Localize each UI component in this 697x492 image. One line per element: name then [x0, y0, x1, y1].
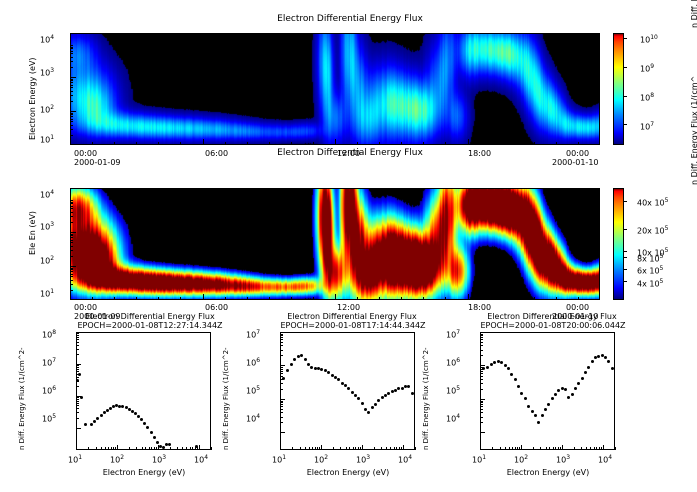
sp3-xtick-3: 103	[556, 453, 570, 465]
axis-tick	[509, 447, 510, 450]
axis-tick	[313, 297, 314, 300]
axis-tick	[70, 135, 73, 136]
axis-tick	[70, 290, 73, 291]
axis-tick	[149, 447, 150, 450]
data-point	[541, 414, 544, 417]
cbar-bot-tick-40: 40x 105	[637, 196, 668, 208]
axis-tick	[136, 447, 137, 450]
ytick-bot-2: 102	[40, 254, 54, 266]
axis-tick	[192, 447, 193, 450]
axis-tick	[70, 119, 73, 120]
axis-tick	[601, 447, 602, 450]
axis-tick	[280, 402, 283, 403]
axis-tick	[390, 447, 391, 450]
axis-tick	[70, 129, 73, 130]
spectrum-3-title: Electron Differential Energy Flux	[462, 312, 642, 321]
axis-tick	[335, 139, 336, 145]
axis-tick	[76, 405, 79, 406]
axis-tick	[319, 447, 320, 450]
axis-tick	[76, 365, 79, 366]
axis-tick	[423, 297, 424, 300]
spectrum-1-title: Electron Differential Energy Flux	[60, 312, 240, 321]
axis-tick	[70, 48, 73, 49]
axis-tick	[480, 373, 483, 374]
axis-tick	[309, 447, 310, 450]
axis-tick	[615, 447, 616, 450]
axis-tick	[355, 447, 356, 450]
axis-tick	[480, 383, 483, 384]
axis-tick	[423, 142, 424, 145]
axis-tick	[76, 335, 79, 336]
axis-tick	[280, 379, 283, 380]
axis-tick	[315, 447, 316, 450]
axis-tick	[76, 396, 81, 397]
panel-title-top: Electron Differential Energy Flux	[200, 14, 500, 24]
axis-tick	[70, 111, 76, 112]
axis-tick	[280, 371, 283, 372]
spectrum-2-plot[interactable]	[280, 332, 415, 450]
xtick-bot-3: 18:00	[468, 303, 491, 312]
sp3-xtick-2: 102	[514, 453, 528, 465]
axis-tick	[70, 274, 73, 275]
spectrum-3-plot[interactable]	[480, 332, 615, 450]
colorbar-label-top: n Diff. Energy Flux (1/(cm^	[690, 0, 697, 28]
axis-tick	[211, 447, 212, 450]
axis-tick	[480, 337, 483, 338]
axis-tick	[76, 342, 79, 343]
axis-tick	[180, 142, 181, 145]
axis-tick	[280, 383, 283, 384]
axis-tick	[101, 447, 102, 450]
axis-tick	[76, 403, 79, 404]
axis-tick	[70, 269, 73, 270]
axis-tick	[280, 404, 283, 405]
axis-tick	[519, 447, 520, 450]
axis-tick	[105, 447, 106, 450]
axis-tick	[76, 428, 81, 429]
axis-tick	[70, 67, 73, 68]
axis-tick	[70, 51, 73, 52]
axis-tick	[512, 142, 513, 145]
axis-tick	[399, 447, 400, 450]
axis-tick	[70, 47, 73, 48]
axis-tick	[480, 342, 483, 343]
axis-tick	[280, 432, 285, 433]
axis-tick	[70, 139, 71, 145]
axis-tick	[555, 447, 556, 450]
axis-tick	[394, 447, 395, 450]
axis-tick	[280, 412, 283, 413]
axis-tick	[195, 447, 196, 450]
axis-tick	[280, 342, 283, 343]
axis-tick	[379, 142, 380, 145]
axis-tick	[374, 447, 375, 450]
axis-tick	[480, 406, 483, 407]
xtick-bot-2: 12:00	[337, 303, 360, 312]
axis-tick	[512, 297, 513, 300]
axis-tick	[269, 297, 270, 300]
axis-tick	[182, 447, 183, 450]
axis-tick	[386, 447, 387, 450]
cbar-bot-tick-4: 4x 105	[637, 277, 663, 289]
axis-tick	[480, 345, 483, 346]
axis-tick	[70, 246, 73, 247]
axis-tick	[76, 371, 79, 372]
axis-tick	[515, 447, 516, 450]
colorbar-tick	[623, 229, 627, 230]
axis-tick	[70, 202, 73, 203]
axis-tick	[70, 113, 73, 114]
colorbar-tick	[623, 257, 627, 258]
axis-tick	[190, 447, 191, 450]
axis-tick	[490, 142, 491, 145]
axis-tick	[76, 332, 81, 333]
axis-tick	[335, 294, 336, 300]
axis-tick	[76, 418, 79, 419]
axis-tick	[280, 445, 281, 450]
axis-tick	[96, 447, 97, 450]
axis-tick	[280, 399, 285, 400]
spectrum-1-plot[interactable]	[76, 332, 211, 450]
xdate-start-top: 2000-01-09	[74, 158, 121, 167]
axis-tick	[92, 142, 93, 145]
sp2-ytick-4: 104	[246, 412, 260, 424]
axis-tick	[480, 367, 483, 368]
sp2-ytick-6: 106	[246, 356, 260, 368]
axis-tick	[280, 401, 283, 402]
axis-tick	[280, 334, 283, 335]
axis-tick	[512, 447, 513, 450]
axis-tick	[170, 447, 171, 450]
axis-tick	[480, 401, 483, 402]
axis-tick	[500, 447, 501, 450]
axis-tick	[291, 297, 292, 300]
axis-tick	[225, 142, 226, 145]
sp1-xtick-4: 104	[194, 453, 208, 465]
axis-tick	[346, 447, 347, 450]
axis-tick	[480, 376, 483, 377]
axis-tick	[70, 232, 76, 233]
axis-tick	[480, 432, 485, 433]
axis-tick	[480, 371, 483, 372]
axis-tick	[578, 297, 579, 300]
axis-tick	[313, 142, 314, 145]
axis-tick	[599, 447, 600, 450]
sp1-xtick-1: 101	[68, 453, 82, 465]
axis-tick	[197, 447, 198, 450]
sp3-ytick-6: 106	[446, 356, 460, 368]
axis-tick	[70, 95, 73, 96]
ytick-top-2: 102	[40, 103, 54, 115]
spectrogram-top-frame	[70, 33, 600, 145]
ytick-bot-1: 101	[40, 287, 54, 299]
axis-tick	[468, 139, 469, 145]
colorbar-tick	[623, 124, 627, 125]
panel-title-bottom: Electron Differential Energy Flux	[200, 148, 500, 158]
axis-tick	[401, 297, 402, 300]
axis-tick	[480, 379, 483, 380]
axis-tick	[357, 297, 358, 300]
data-point	[591, 360, 594, 363]
axis-tick	[225, 297, 226, 300]
axis-tick	[480, 365, 485, 366]
axis-tick	[70, 235, 73, 236]
ytick-top-1: 101	[40, 133, 54, 145]
sp3-ytick-5: 105	[446, 384, 460, 396]
axis-tick	[280, 365, 285, 366]
axis-tick	[480, 402, 483, 403]
axis-tick	[480, 412, 483, 413]
spectrogram-top[interactable]	[70, 33, 600, 145]
axis-tick	[70, 85, 73, 86]
sp1-ytick-7: 107	[42, 356, 56, 368]
data-point	[331, 374, 334, 377]
axis-tick	[186, 447, 187, 450]
axis-tick	[521, 445, 522, 450]
axis-tick	[114, 297, 115, 300]
data-point	[153, 436, 156, 439]
data-point	[290, 363, 293, 366]
axis-tick	[269, 142, 270, 145]
data-point	[554, 393, 557, 396]
data-point	[96, 417, 99, 420]
axis-tick	[180, 297, 181, 300]
axis-tick	[490, 297, 491, 300]
axis-tick	[534, 297, 535, 300]
axis-tick	[280, 422, 283, 423]
axis-tick	[401, 447, 402, 450]
axis-tick	[480, 335, 483, 336]
axis-tick	[158, 297, 159, 300]
data-point	[150, 431, 153, 434]
spectrum-2-subtitle: EPOCH=2000-01-08T17:14:44.344Z	[258, 321, 448, 330]
axis-tick	[76, 339, 79, 340]
axis-tick	[70, 61, 73, 62]
ytick-top-4: 104	[40, 33, 54, 45]
colorbar-tick	[623, 96, 627, 97]
sp2-ytick-7: 107	[246, 328, 260, 340]
axis-tick	[76, 345, 79, 346]
data-point	[286, 369, 289, 372]
axis-tick	[203, 294, 204, 300]
axis-tick	[480, 422, 483, 423]
axis-tick	[445, 297, 446, 300]
sp3-ytick-4: 104	[446, 412, 460, 424]
sp3-xtick-1: 101	[472, 453, 486, 465]
axis-tick	[76, 374, 79, 375]
axis-tick	[70, 280, 73, 281]
data-point	[571, 393, 574, 396]
data-point	[371, 406, 374, 409]
axis-tick	[581, 447, 582, 450]
axis-tick	[603, 445, 604, 450]
axis-tick	[76, 354, 79, 355]
axis-tick	[340, 447, 341, 450]
data-point	[381, 396, 384, 399]
axis-tick	[88, 447, 89, 450]
sp2-xtick-1: 101	[272, 453, 286, 465]
axis-tick	[76, 364, 81, 365]
data-point	[364, 408, 367, 411]
axis-tick	[117, 445, 118, 450]
data-point	[411, 392, 414, 395]
cbar-top-tick-8: 108	[640, 91, 654, 103]
spectrum-3-ylabel: n Diff. Energy Flux (1/(cm^2-	[422, 347, 430, 450]
axis-tick	[578, 142, 579, 145]
axis-tick	[353, 447, 354, 450]
axis-tick	[596, 447, 597, 450]
colorbar-tick	[623, 251, 627, 252]
xtick-top-4: 00:00	[566, 149, 589, 158]
data-point	[531, 410, 534, 413]
axis-tick	[70, 256, 73, 257]
colorbar-label-bottom: n Diff. Energy Flux (1/(cm^	[690, 76, 697, 185]
axis-tick	[70, 82, 73, 83]
axis-tick	[415, 447, 416, 450]
colorbar-bottom[interactable]	[613, 188, 624, 300]
spectrogram-bottom[interactable]	[70, 188, 600, 300]
axis-tick	[76, 412, 79, 413]
axis-tick	[586, 447, 587, 450]
spectrum-1-xlabel: Electron Energy (eV)	[74, 468, 214, 477]
axis-tick	[76, 367, 79, 368]
spectrum-1-subtitle: EPOCH=2000-01-08T12:27:14.344Z	[55, 321, 245, 330]
axis-tick	[317, 447, 318, 450]
axis-tick	[111, 447, 112, 450]
axis-tick	[70, 200, 73, 201]
axis-tick	[280, 409, 283, 410]
axis-tick	[534, 142, 535, 145]
axis-tick	[292, 447, 293, 450]
cbar-top-tick-7: 107	[640, 120, 654, 132]
axis-tick	[142, 447, 143, 450]
axis-tick	[280, 376, 283, 377]
data-point	[354, 394, 357, 397]
axis-tick	[70, 237, 73, 238]
axis-tick	[145, 447, 146, 450]
axis-tick	[556, 297, 557, 300]
axis-tick	[590, 447, 591, 450]
spectrum-1-ylabel: n Diff. Energy Flux (1/(cm^2-	[18, 347, 26, 450]
axis-tick	[154, 447, 155, 450]
axis-tick	[70, 45, 73, 46]
colorbar-tick	[623, 281, 627, 282]
sp2-xtick-4: 104	[398, 453, 412, 465]
cbar-top-tick-9: 109	[640, 62, 654, 74]
axis-tick	[358, 447, 359, 450]
cbar-bot-tick-20: 20x 105	[637, 224, 668, 236]
colorbar-top[interactable]	[613, 33, 624, 145]
axis-tick	[379, 297, 380, 300]
xtick-bot-1: 06:00	[205, 303, 228, 312]
colorbar-tick	[623, 67, 627, 68]
axis-tick	[76, 349, 79, 350]
spectrum-2-title: Electron Differential Energy Flux	[262, 312, 442, 321]
axis-tick	[70, 91, 73, 92]
axis-tick	[280, 369, 283, 370]
spectrum-1-frame	[76, 332, 211, 450]
axis-tick	[321, 445, 322, 450]
data-point	[156, 441, 159, 444]
axis-tick	[70, 242, 73, 243]
axis-tick	[280, 345, 283, 346]
axis-tick	[156, 447, 157, 450]
colorbar-tick	[623, 201, 627, 202]
axis-tick	[115, 447, 116, 450]
axis-tick	[300, 447, 301, 450]
axis-tick	[280, 332, 285, 333]
data-point	[310, 366, 313, 369]
axis-tick	[76, 401, 79, 402]
axis-tick	[177, 447, 178, 450]
axis-tick	[560, 447, 561, 450]
axis-tick	[129, 447, 130, 450]
axis-tick	[396, 447, 397, 450]
sp1-ytick-8: 108	[42, 328, 56, 340]
axis-tick	[468, 294, 469, 300]
ytick-top-3: 103	[40, 66, 54, 78]
axis-tick	[480, 369, 483, 370]
axis-tick	[70, 114, 73, 115]
data-point	[100, 414, 103, 417]
data-point	[514, 378, 517, 381]
sp2-xtick-3: 103	[356, 453, 370, 465]
axis-tick	[76, 333, 79, 334]
data-point	[486, 366, 489, 369]
axis-tick	[280, 339, 283, 340]
axis-tick	[70, 284, 73, 285]
axis-tick	[70, 271, 73, 272]
axis-tick	[553, 447, 554, 450]
xtick-bot-4: 00:00	[566, 303, 589, 312]
axis-tick	[280, 367, 283, 368]
sp1-ytick-6: 106	[42, 384, 56, 396]
axis-tick	[480, 409, 483, 410]
sp1-ytick-5: 105	[42, 412, 56, 424]
axis-tick	[480, 404, 483, 405]
axis-tick	[76, 381, 79, 382]
axis-tick	[594, 447, 595, 450]
axis-tick	[70, 116, 73, 117]
axis-tick	[280, 389, 283, 390]
axis-tick	[480, 417, 483, 418]
axis-tick	[136, 297, 137, 300]
axis-tick	[113, 447, 114, 450]
axis-tick	[76, 386, 79, 387]
xtick-bot-0: 00:00	[74, 303, 97, 312]
axis-tick	[556, 142, 557, 145]
sp2-xtick-2: 102	[314, 453, 328, 465]
axis-tick	[349, 447, 350, 450]
axis-tick	[158, 142, 159, 145]
axis-tick	[401, 142, 402, 145]
ytick-bot-4: 104	[40, 188, 54, 200]
axis-tick	[70, 240, 73, 241]
spectrum-3-subtitle: EPOCH=2000-01-08T20:00:06.044Z	[458, 321, 648, 330]
axis-tick	[280, 417, 283, 418]
colorbar-tick	[623, 38, 627, 39]
axis-tick	[70, 222, 73, 223]
axis-tick	[562, 445, 563, 450]
ylabel-top: Electron Energy (eV)	[28, 57, 37, 140]
axis-tick	[199, 445, 200, 450]
axis-tick	[280, 337, 283, 338]
spectrum-3-frame	[480, 332, 615, 450]
sp1-xtick-3: 103	[152, 453, 166, 465]
axis-tick	[70, 57, 73, 58]
axis-tick	[76, 399, 79, 400]
axis-tick	[70, 276, 73, 277]
